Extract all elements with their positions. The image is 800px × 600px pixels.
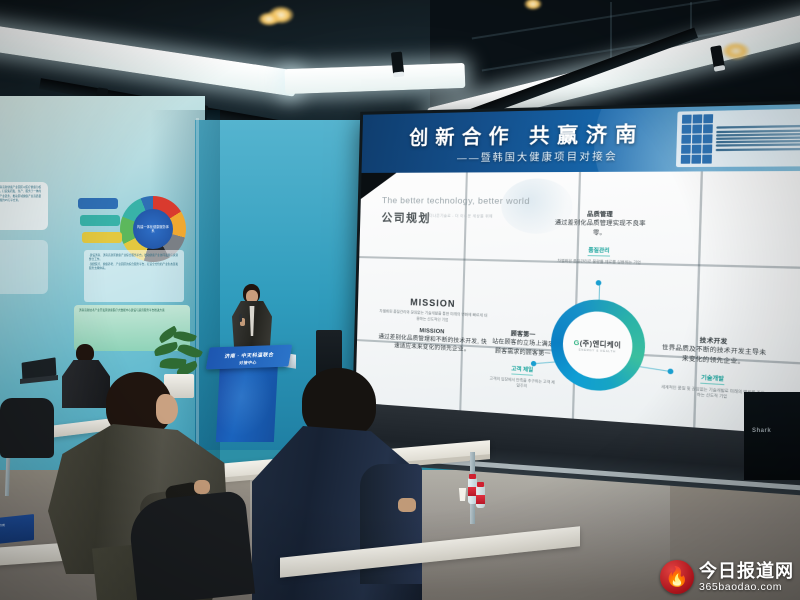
attendee-face bbox=[156, 394, 178, 424]
shark-label: Shark bbox=[752, 428, 771, 434]
wall-panel-green-body: 济南高新技术产业开发区健康医疗大数据中心建设与运营服务平台推进方案 bbox=[74, 305, 170, 317]
plant-leaf bbox=[153, 342, 179, 357]
ceiling-truss bbox=[610, 2, 612, 62]
watermark-text: 今日报道网 365baodao.com bbox=[699, 562, 794, 593]
block-quality-kr-title: 품질관리 bbox=[588, 247, 610, 257]
slide-title: 公司规划 bbox=[381, 209, 431, 226]
block-quality-kr-body: 차별화된 품질관리로 불량률 제로를 실현하는 기업 bbox=[548, 258, 651, 267]
flame-icon: 🔥 bbox=[665, 568, 689, 587]
blue-box: 济南 bbox=[0, 514, 34, 544]
center-ring-diagram: G(주)엔디케이 ENERGY & HEALTH bbox=[550, 298, 647, 394]
microphone-icon bbox=[239, 314, 242, 322]
spotlight-icon bbox=[391, 51, 404, 74]
block-customer-kr-title: 고객 제일 bbox=[511, 365, 533, 375]
banner-info-block bbox=[676, 108, 800, 167]
wall-panel-blank bbox=[0, 240, 48, 294]
bezel-seam bbox=[692, 171, 702, 457]
connector-node bbox=[531, 361, 537, 367]
connector-node bbox=[596, 280, 602, 286]
podium-sign-line1: 济南 · 中天科温联合 bbox=[224, 351, 274, 360]
watermark-logo: 🔥 bbox=[660, 560, 694, 594]
block-mission-heading: MISSION bbox=[379, 296, 488, 310]
wall-panel-bullets-body: ·建设济南、济南高新区健康产业综合服务平台，推动健康产业协同发展与资源整合工作。… bbox=[84, 250, 184, 276]
slide-eyebrow: The better technology, better world bbox=[382, 195, 530, 206]
block-mission-kr-body: 차별화된 품질관리와 끊임없는 기술개발을 통한 미래의 변화에 빠르게 대응하… bbox=[379, 309, 488, 326]
ceiling-lamp-glow bbox=[258, 12, 280, 26]
wall-pill-tag bbox=[78, 198, 118, 209]
slide-block-quality: 品质管理 通过差别化品质管理实现不良率零。 품질관리 차별화된 품질관리로 불량… bbox=[548, 210, 653, 266]
donut-center-label: 构建一体化健康服务体系 bbox=[133, 225, 173, 234]
block-tech-cn-body: 世界品质及不断的技术开发主导未来变化的领先企业。 bbox=[661, 344, 767, 368]
banner-qr-icon bbox=[681, 114, 713, 164]
watermark: 🔥 今日报道网 365baodao.com bbox=[660, 560, 794, 594]
conference-room-photo: 济南高新健康产业园区以医疗健康为核心，打造集研发、生产、服务于一体的全产业链条，… bbox=[0, 0, 800, 600]
connector-node bbox=[667, 368, 673, 374]
podium-sign-line2: 对接中心 bbox=[239, 360, 258, 367]
block-customer-kr-body: 고객의 입장에서 만족을 추구하는 고객 제일주의 bbox=[489, 376, 555, 392]
wall-pill-tag bbox=[80, 215, 120, 226]
wall-panel-text: 济南高新健康产业园区以医疗健康为核心，打造集研发、生产、服务于一体的全产业链条，… bbox=[0, 182, 48, 230]
slide-block-mission: MISSION 차별화된 품질관리와 끊임없는 기술개발을 통한 미래의 변화에… bbox=[378, 296, 488, 356]
watermark-cn: 今日报道网 bbox=[699, 562, 794, 580]
banner-info-lines bbox=[715, 112, 800, 164]
podium-sign-board: 济南 · 中天科温联合 对接中心 bbox=[206, 345, 292, 370]
wall-panel-text-body: 济南高新健康产业园区以医疗健康为核心，打造集研发、生产、服务于一体的全产业链条，… bbox=[0, 182, 48, 208]
ceiling-truss bbox=[690, 2, 692, 48]
attendee-hand bbox=[194, 480, 210, 494]
attendee-head bbox=[76, 344, 94, 362]
center-logo: G(주)엔디케이 ENERGY & HEALTH bbox=[573, 337, 621, 354]
shark-display-panel: Shark bbox=[744, 392, 800, 480]
block-quality-cn-body: 通过差别化品质管理实现不良率零。 bbox=[549, 219, 653, 239]
attendee-hand bbox=[398, 498, 416, 512]
donut-chart-center: 构建一体化健康服务体系 bbox=[133, 209, 173, 249]
wall-pill-tag bbox=[82, 232, 122, 243]
block-tech-kr-title: 기술개발 bbox=[701, 374, 724, 385]
bottle-cap bbox=[469, 474, 476, 479]
water-bottle bbox=[476, 486, 485, 508]
chair bbox=[0, 398, 54, 458]
ceiling-lamp-glow bbox=[722, 42, 750, 60]
slide-block-customer: 顾客第一 站在顾客的立场上满足顾客需求的顾客第一 고객 제일 고객의 입장에서 … bbox=[489, 329, 557, 392]
watermark-en: 365baodao.com bbox=[699, 582, 794, 593]
bottle-label bbox=[476, 495, 485, 504]
banner-subtitle: ——暨韩国大健康项目对接会 bbox=[457, 148, 618, 164]
chair bbox=[127, 490, 255, 600]
bottle-cap bbox=[477, 482, 484, 487]
block-customer-cn-body: 站在顾客的立场上满足顾客需求的顾客第一 bbox=[490, 338, 557, 359]
banner-title: 创新合作 共赢济南 bbox=[409, 118, 645, 150]
presentation-banner: 创新合作 共赢济南 ——暨韩国大健康项目对接会 bbox=[362, 103, 800, 173]
wall-panel-bullets: ·建设济南、济南高新区健康产业综合服务平台，推动健康产业协同发展与资源整合工作。… bbox=[84, 250, 184, 302]
slide-title-sub: 더나은기술로 - 더 이로운 세상을 위해 bbox=[429, 214, 493, 220]
blue-box-label: 济南 bbox=[0, 523, 5, 528]
